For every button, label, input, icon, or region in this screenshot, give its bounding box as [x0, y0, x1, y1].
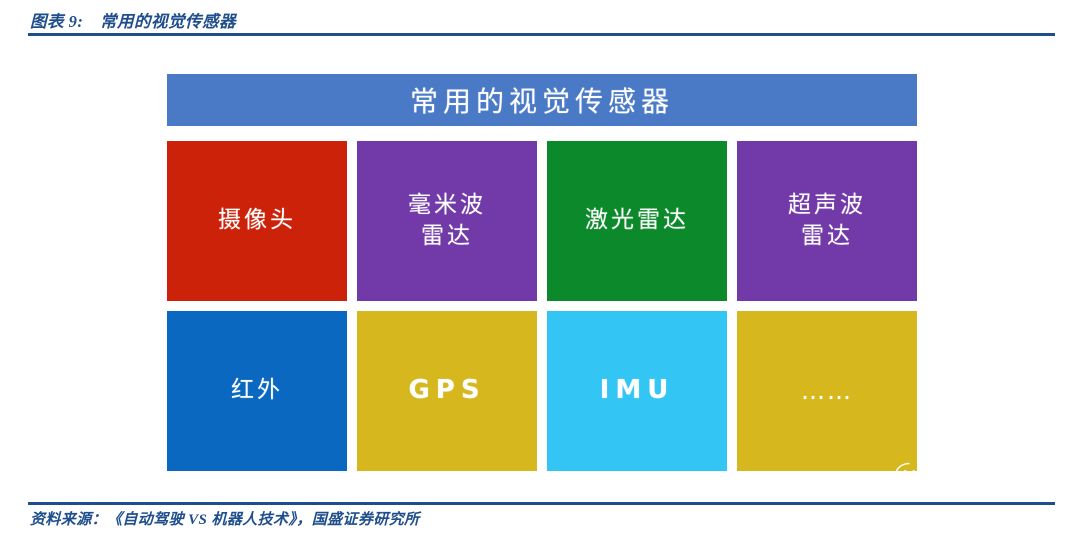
sensor-diagram: 常用的视觉传感器 摄像头 毫米波 雷达 激光雷达 超声波 雷达 红外 GPS [167, 74, 917, 471]
sensor-cell-mmwave-radar: 毫米波 雷达 [357, 141, 537, 301]
watermark-label: 鸣星制造 [945, 461, 1045, 496]
sensor-cell-infrared: 红外 [167, 311, 347, 471]
figure-title: 常用的视觉传感器 [100, 12, 236, 31]
caption-divider-top [28, 33, 1055, 36]
diagram-banner: 常用的视觉传感器 [167, 74, 917, 126]
sensor-cell-label: IMU [600, 373, 675, 408]
source-divider [28, 502, 1055, 505]
diagram-banner-label: 常用的视觉传感器 [410, 80, 674, 120]
sensor-cell-label: 摄像头 [218, 205, 296, 236]
figure-number: 图表 9: [30, 12, 83, 31]
sensor-row: 红外 GPS IMU …… [167, 311, 917, 471]
sensor-cell-label: 超声波 雷达 [788, 190, 866, 252]
sensor-cell-gps: GPS [357, 311, 537, 471]
sensor-cell-ultrasonic-radar: 超声波 雷达 [737, 141, 917, 301]
sensor-grid: 摄像头 毫米波 雷达 激光雷达 超声波 雷达 红外 GPS IMU … [167, 141, 917, 471]
sensor-cell-others: …… [737, 311, 917, 471]
sensor-cell-imu: IMU [547, 311, 727, 471]
sensor-cell-label: 红外 [231, 375, 283, 406]
sensor-cell-lidar: 激光雷达 [547, 141, 727, 301]
sensor-cell-label: …… [801, 375, 853, 407]
sensor-cell-label: GPS [408, 373, 485, 408]
sensor-cell-camera: 摄像头 [167, 141, 347, 301]
sensor-cell-label: 激光雷达 [585, 205, 689, 236]
wechat-icon [893, 460, 939, 496]
source-note: 资料来源：《自动驾驶 VS 机器人技术》，国盛证券研究所 [30, 508, 420, 529]
sensor-row: 摄像头 毫米波 雷达 激光雷达 超声波 雷达 [167, 141, 917, 301]
watermark: 鸣星制造 [893, 460, 1045, 496]
figure-caption: 图表 9: 常用的视觉传感器 [30, 8, 236, 32]
sensor-cell-label: 毫米波 雷达 [408, 190, 486, 252]
